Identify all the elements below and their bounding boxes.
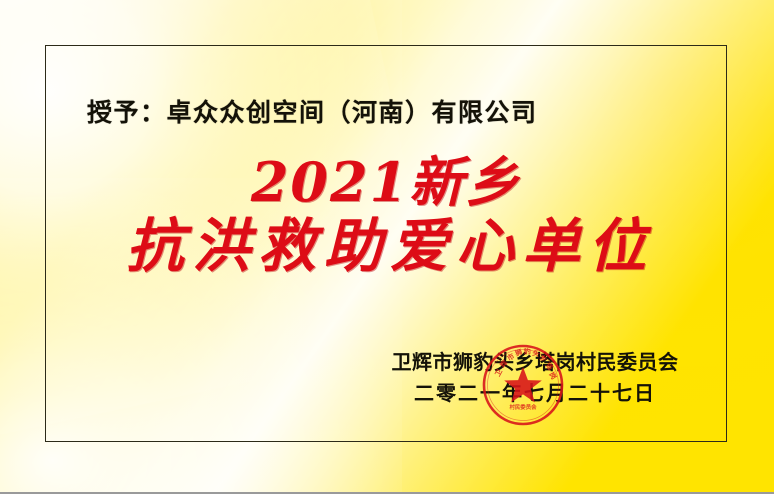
- issuer-organization: 卫辉市狮豹头乡塔岗村民委员会: [385, 349, 685, 376]
- certificate-title-block: 2021新乡 抗洪救助爱心单位: [45, 155, 727, 278]
- signature-block: 卫辉市狮豹头乡塔岗村民委员会 二零二一年七月二十七日: [385, 349, 685, 408]
- award-plaque: 授予：卓众众创空间（河南）有限公司 2021新乡 抗洪救助爱心单位 卫辉市狮豹头…: [0, 0, 774, 494]
- certificate-title-line-2: 抗洪救助爱心单位: [45, 215, 727, 278]
- certificate-content: 授予：卓众众创空间（河南）有限公司 2021新乡 抗洪救助爱心单位 卫辉市狮豹头…: [45, 45, 727, 442]
- recipient-line: 授予：卓众众创空间（河南）有限公司: [87, 93, 538, 129]
- certificate-title-line-1: 2021新乡: [45, 155, 727, 209]
- issue-date: 二零二一年七月二十七日: [385, 378, 685, 408]
